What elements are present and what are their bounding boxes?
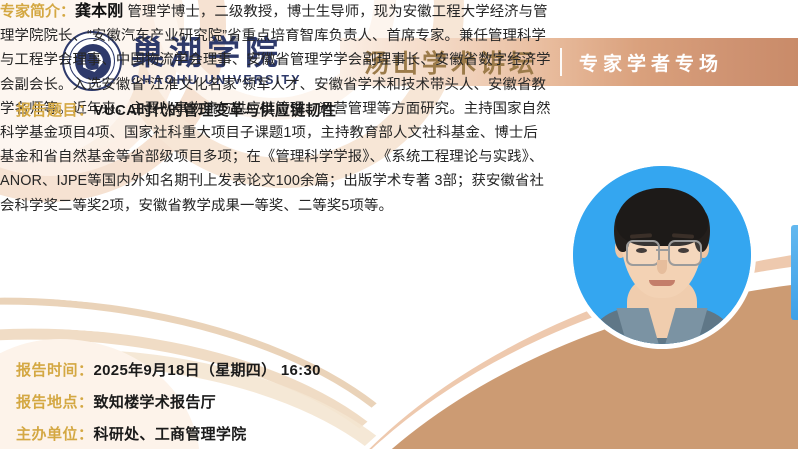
- report-time-value: 2025年9月18日（星期四） 16:30: [94, 359, 321, 380]
- portrait-mouth: [649, 280, 675, 286]
- portrait-nose: [657, 260, 667, 274]
- report-place-label: 报告地点：: [16, 391, 94, 412]
- portrait-glasses-left-lens: [626, 240, 660, 266]
- portrait-glasses-bridge: [656, 249, 668, 251]
- report-title-label: 报告题目：: [16, 99, 94, 120]
- report-place-value: 致知楼学术报告厅: [94, 391, 216, 412]
- speaker-name: 龚本刚: [75, 3, 123, 20]
- report-host-row: 主办单位： 科研处、工商管理学院: [16, 423, 247, 444]
- portrait-glasses-right-lens: [668, 240, 702, 266]
- report-title-row: 报告题目： VUCA时代的管理变革与供应链韧性: [16, 99, 336, 120]
- report-time-label: 报告时间：: [16, 359, 94, 380]
- speaker-portrait: [573, 166, 751, 344]
- report-host-label: 主办单位：: [16, 423, 94, 444]
- speaker-bio-label: 专家简介：: [0, 0, 75, 24]
- report-title-value: VUCA时代的管理变革与供应链韧性: [94, 99, 337, 120]
- report-host-value: 科研处、工商管理学院: [94, 423, 247, 444]
- report-place-row: 报告地点： 致知楼学术报告厅: [16, 391, 216, 412]
- poster-root: 巢湖学院 CHAOHU UNIVERSITY 汤山学术讲坛 专家学者专场: [0, 0, 798, 449]
- report-time-row: 报告时间： 2025年9月18日（星期四） 16:30: [16, 359, 321, 380]
